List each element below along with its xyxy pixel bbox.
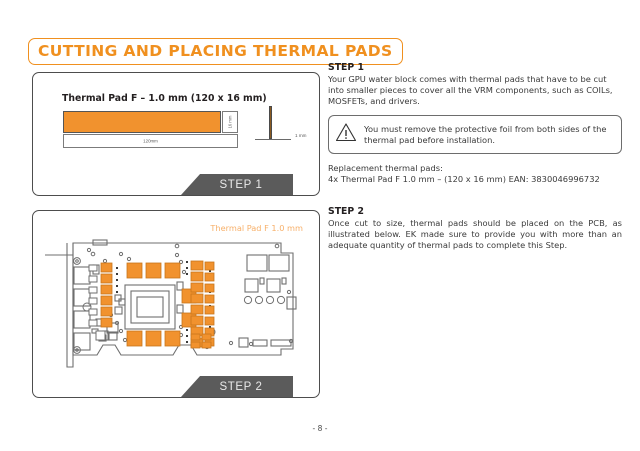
step-banner-2: STEP 2: [181, 376, 293, 397]
dimension-width-label: 16 mm: [228, 116, 233, 129]
gpu-pcb-diagram: [41, 237, 313, 377]
page-title: CUTTING AND PLACING THERMAL PADS: [28, 38, 403, 65]
step1-text-block: STEP 1 Your GPU water block comes with t…: [328, 62, 622, 185]
step2-heading: STEP 2: [328, 206, 622, 217]
step2-text-block: STEP 2 Once cut to size, thermal pads sh…: [328, 206, 622, 250]
warning-triangle-icon: [335, 122, 357, 147]
illustration-panel-step1: Thermal Pad F – 1.0 mm (120 x 16 mm) 16 …: [32, 72, 320, 196]
step1-body: Your GPU water block comes with thermal …: [328, 74, 622, 106]
step2-body: Once cut to size, thermal pads should be…: [328, 218, 622, 250]
dimension-length-callout: 120mm: [63, 134, 238, 148]
dimension-thickness-label: 1 mm: [295, 133, 306, 138]
replacement-value: 4x Thermal Pad F 1.0 mm – (120 x 16 mm) …: [328, 174, 622, 185]
pad-title-label: Thermal Pad F – 1.0 mm (120 x 16 mm): [62, 93, 267, 104]
page-title-text: CUTTING AND PLACING THERMAL PADS: [28, 38, 403, 65]
thermal-pad-graphic: [63, 111, 221, 133]
manual-page: CUTTING AND PLACING THERMAL PADS Thermal…: [0, 0, 640, 451]
step1-heading: STEP 1: [328, 62, 622, 73]
warning-note-text: You must remove the protective foil from…: [364, 124, 613, 146]
pad-legend-label: Thermal Pad F 1.0 mm: [210, 223, 303, 233]
page-number: - 8 -: [0, 424, 640, 433]
dimension-width-callout: 16 mm: [222, 111, 238, 133]
warning-note: You must remove the protective foil from…: [328, 115, 622, 154]
step-banner-1: STEP 1: [181, 174, 293, 195]
pad-edge-baseline: [255, 139, 291, 140]
pad-edge-bar: [269, 106, 272, 139]
pad-edge-view: 1 mm: [255, 106, 317, 151]
replacement-label: Replacement thermal pads:: [328, 163, 622, 174]
illustration-panel-step2: Thermal Pad F 1.0 mm: [32, 210, 320, 398]
dimension-length-label: 120mm: [143, 139, 158, 144]
